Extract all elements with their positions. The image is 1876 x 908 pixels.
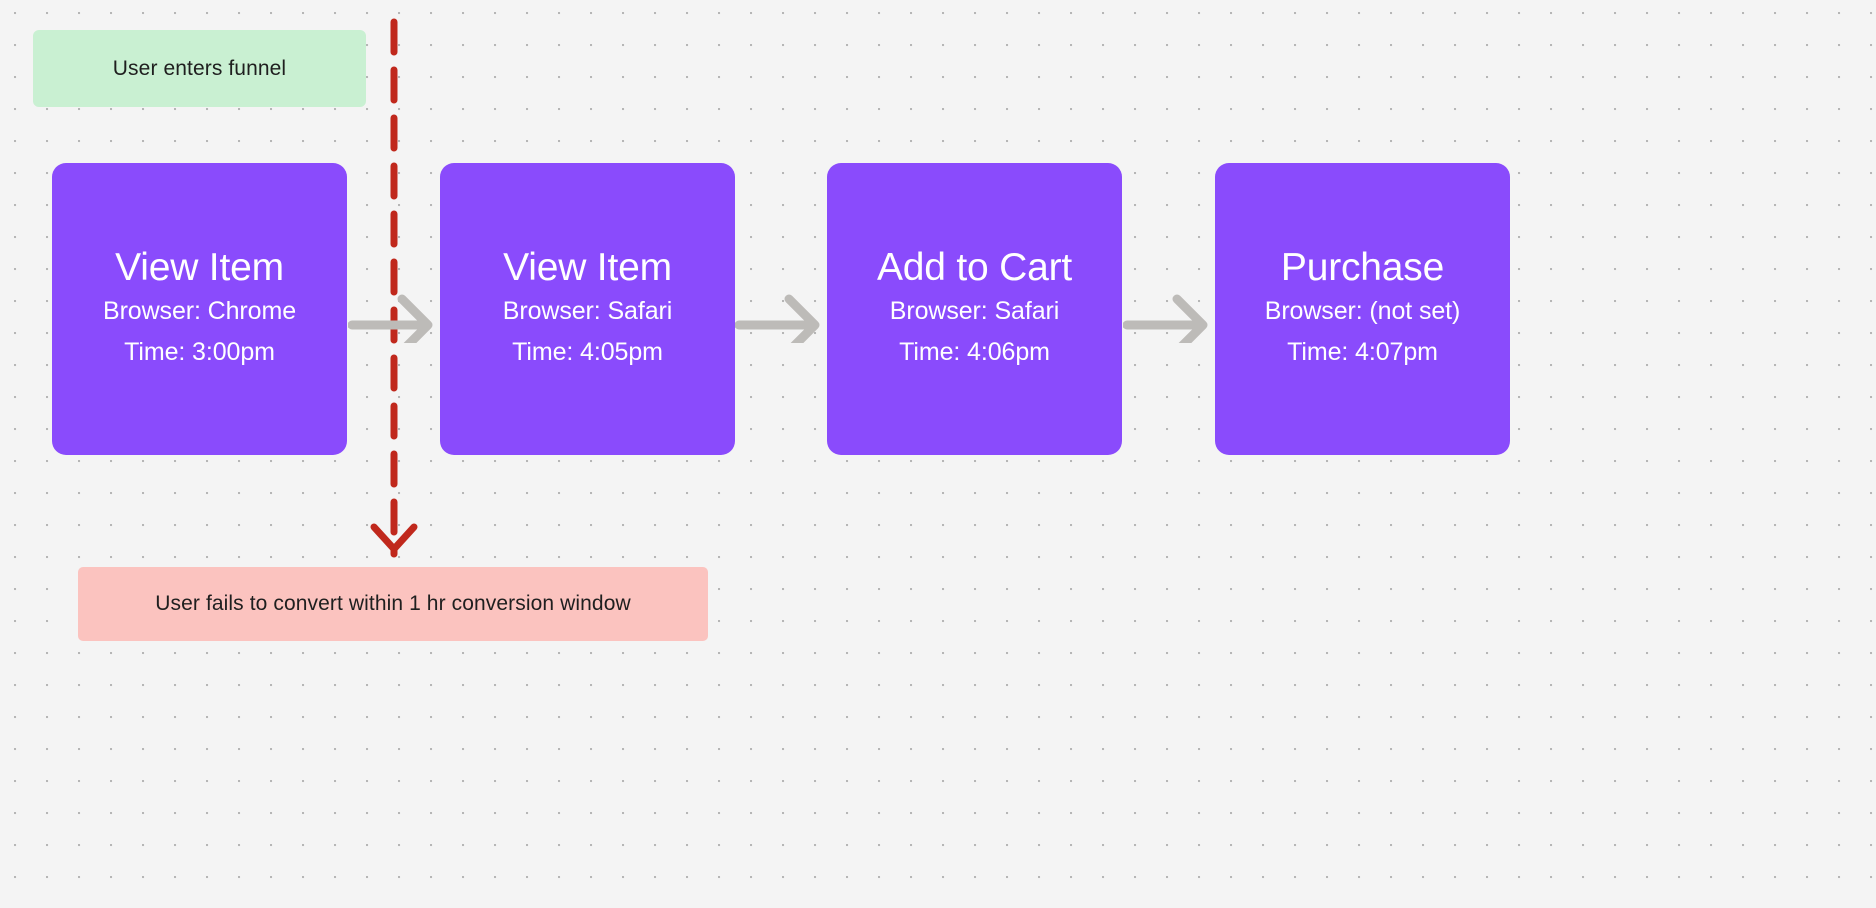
failure-annotation-label: User fails to convert within 1 hr conver… [155, 592, 630, 616]
step-browser: Browser: Safari [890, 291, 1059, 332]
funnel-step-card-4[interactable]: Purchase Browser: (not set) Time: 4:07pm [1215, 163, 1510, 455]
step-time: Time: 4:05pm [512, 332, 663, 373]
funnel-step-card-2[interactable]: View Item Browser: Safari Time: 4:05pm [440, 163, 735, 455]
entry-annotation-box[interactable]: User enters funnel [33, 30, 366, 107]
step-title: Purchase [1281, 246, 1444, 290]
step-time: Time: 3:00pm [124, 332, 275, 373]
failure-annotation-box[interactable]: User fails to convert within 1 hr conver… [78, 567, 708, 641]
step-title: View Item [503, 246, 672, 290]
step-title: Add to Cart [877, 246, 1072, 290]
arrow-right-icon [348, 285, 440, 343]
step-browser: Browser: Chrome [103, 291, 296, 332]
diagram-canvas: User enters funnel View Item Browser: Ch… [0, 0, 1876, 908]
funnel-step-card-1[interactable]: View Item Browser: Chrome Time: 3:00pm [52, 163, 347, 455]
step-time: Time: 4:06pm [899, 332, 1050, 373]
dropoff-arrow-head-icon [364, 505, 424, 565]
funnel-step-card-3[interactable]: Add to Cart Browser: Safari Time: 4:06pm [827, 163, 1122, 455]
step-time: Time: 4:07pm [1287, 332, 1438, 373]
step-browser: Browser: Safari [503, 291, 672, 332]
arrow-right-icon [735, 285, 827, 343]
entry-annotation-label: User enters funnel [113, 57, 286, 81]
step-title: View Item [115, 246, 284, 290]
arrow-right-icon [1123, 285, 1215, 343]
step-browser: Browser: (not set) [1265, 291, 1460, 332]
